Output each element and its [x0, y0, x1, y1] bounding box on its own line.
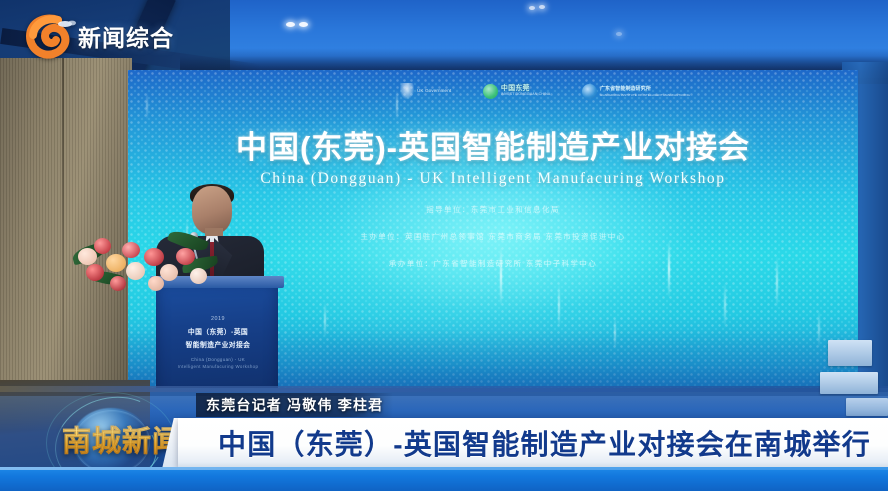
institute-seal-icon — [582, 84, 597, 99]
backdrop-sponsor-logos: UK Government 中国东莞 INVEST DONGGUAN CHINA… — [400, 78, 690, 104]
flower-arrangement — [72, 228, 222, 296]
swirl-logo-icon — [24, 13, 78, 59]
headline-text: 中国（东莞）-英国智能制造产业对接会在南城举行 — [218, 418, 871, 468]
broadcast-screenshot: UK Government 中国东莞 INVEST DONGGUAN CHINA… — [0, 0, 888, 491]
ceiling-spotlight — [616, 32, 622, 36]
flower-bloom — [144, 248, 164, 266]
bottom-strip-highlight — [0, 467, 888, 470]
stage-edge — [0, 386, 888, 392]
reporter-credit-text: 东莞台记者 冯敬伟 李柱君 — [206, 395, 383, 415]
sponsor-logo-dongguan-subtitle: INVEST DONGGUAN CHINA — [501, 93, 550, 97]
sponsor-logo-institute: 广东省智能制造研究所 GUANGDONG INSTITUTE OF INTELL… — [582, 84, 690, 99]
flower-bloom — [86, 264, 104, 281]
uk-government-crown-icon — [400, 83, 414, 99]
sponsor-logo-dongguan: 中国东莞 INVEST DONGGUAN CHINA — [483, 84, 550, 99]
flower-bloom — [110, 276, 126, 291]
wall-panel-seam — [62, 58, 64, 388]
podium-line-title-2: 智能制造产业对接会 — [168, 339, 268, 349]
channel-bug: 新闻综合 — [24, 12, 174, 60]
flower-bloom — [94, 238, 111, 254]
backdrop-event-title: 中国(东莞)-英国智能制造产业对接会 — [128, 122, 858, 167]
dongguan-china-icon — [483, 84, 498, 99]
led-light-streak — [558, 284, 560, 328]
sponsor-logo-uk-title: UK Government — [417, 89, 451, 94]
podium-nameplate: 2019 中国（东莞）-英国 智能制造产业对接会 China (Dongguan… — [168, 316, 268, 386]
podium-line-en-2: Intelligent Manufacuring Workshop — [168, 364, 268, 369]
sponsor-logo-institute-subtitle: GUANGDONG INSTITUTE OF INTELLIGENT MANUF… — [600, 94, 690, 97]
podium-line-title-1: 中国（东莞）-英国 — [168, 326, 268, 336]
ceiling-spotlight — [286, 22, 295, 27]
ceiling-spotlight — [299, 22, 308, 27]
led-light-streak — [396, 90, 398, 120]
flower-bloom — [78, 248, 97, 265]
reporter-credit-strip: 东莞台记者 冯敬伟 李柱君 — [196, 393, 393, 417]
podium-line-year: 2019 — [168, 316, 268, 322]
ceiling-spotlight — [539, 5, 545, 9]
speaker-head — [192, 186, 232, 234]
sponsor-logo-institute-title: 广东省智能制造研究所 — [600, 87, 690, 92]
led-light-streak — [146, 92, 148, 120]
sponsor-logo-uk-government: UK Government — [400, 83, 451, 99]
flower-bloom — [122, 242, 140, 258]
flower-bloom — [106, 254, 126, 272]
flower-bloom — [176, 248, 195, 265]
stage-furniture — [820, 372, 878, 394]
podium-line-en-1: China (Dongguan) - UK — [168, 357, 268, 362]
ceiling-spotlight — [529, 6, 535, 10]
bottom-blue-strip — [0, 467, 888, 491]
stage-furniture — [846, 398, 888, 416]
flower-bloom — [126, 262, 145, 280]
channel-name: 新闻综合 — [78, 19, 174, 53]
flower-bloom — [190, 268, 207, 284]
sponsor-logo-dongguan-title: 中国东莞 — [501, 85, 550, 92]
led-light-streak — [724, 282, 726, 328]
stage-furniture — [828, 340, 872, 366]
flower-bloom — [148, 276, 164, 291]
